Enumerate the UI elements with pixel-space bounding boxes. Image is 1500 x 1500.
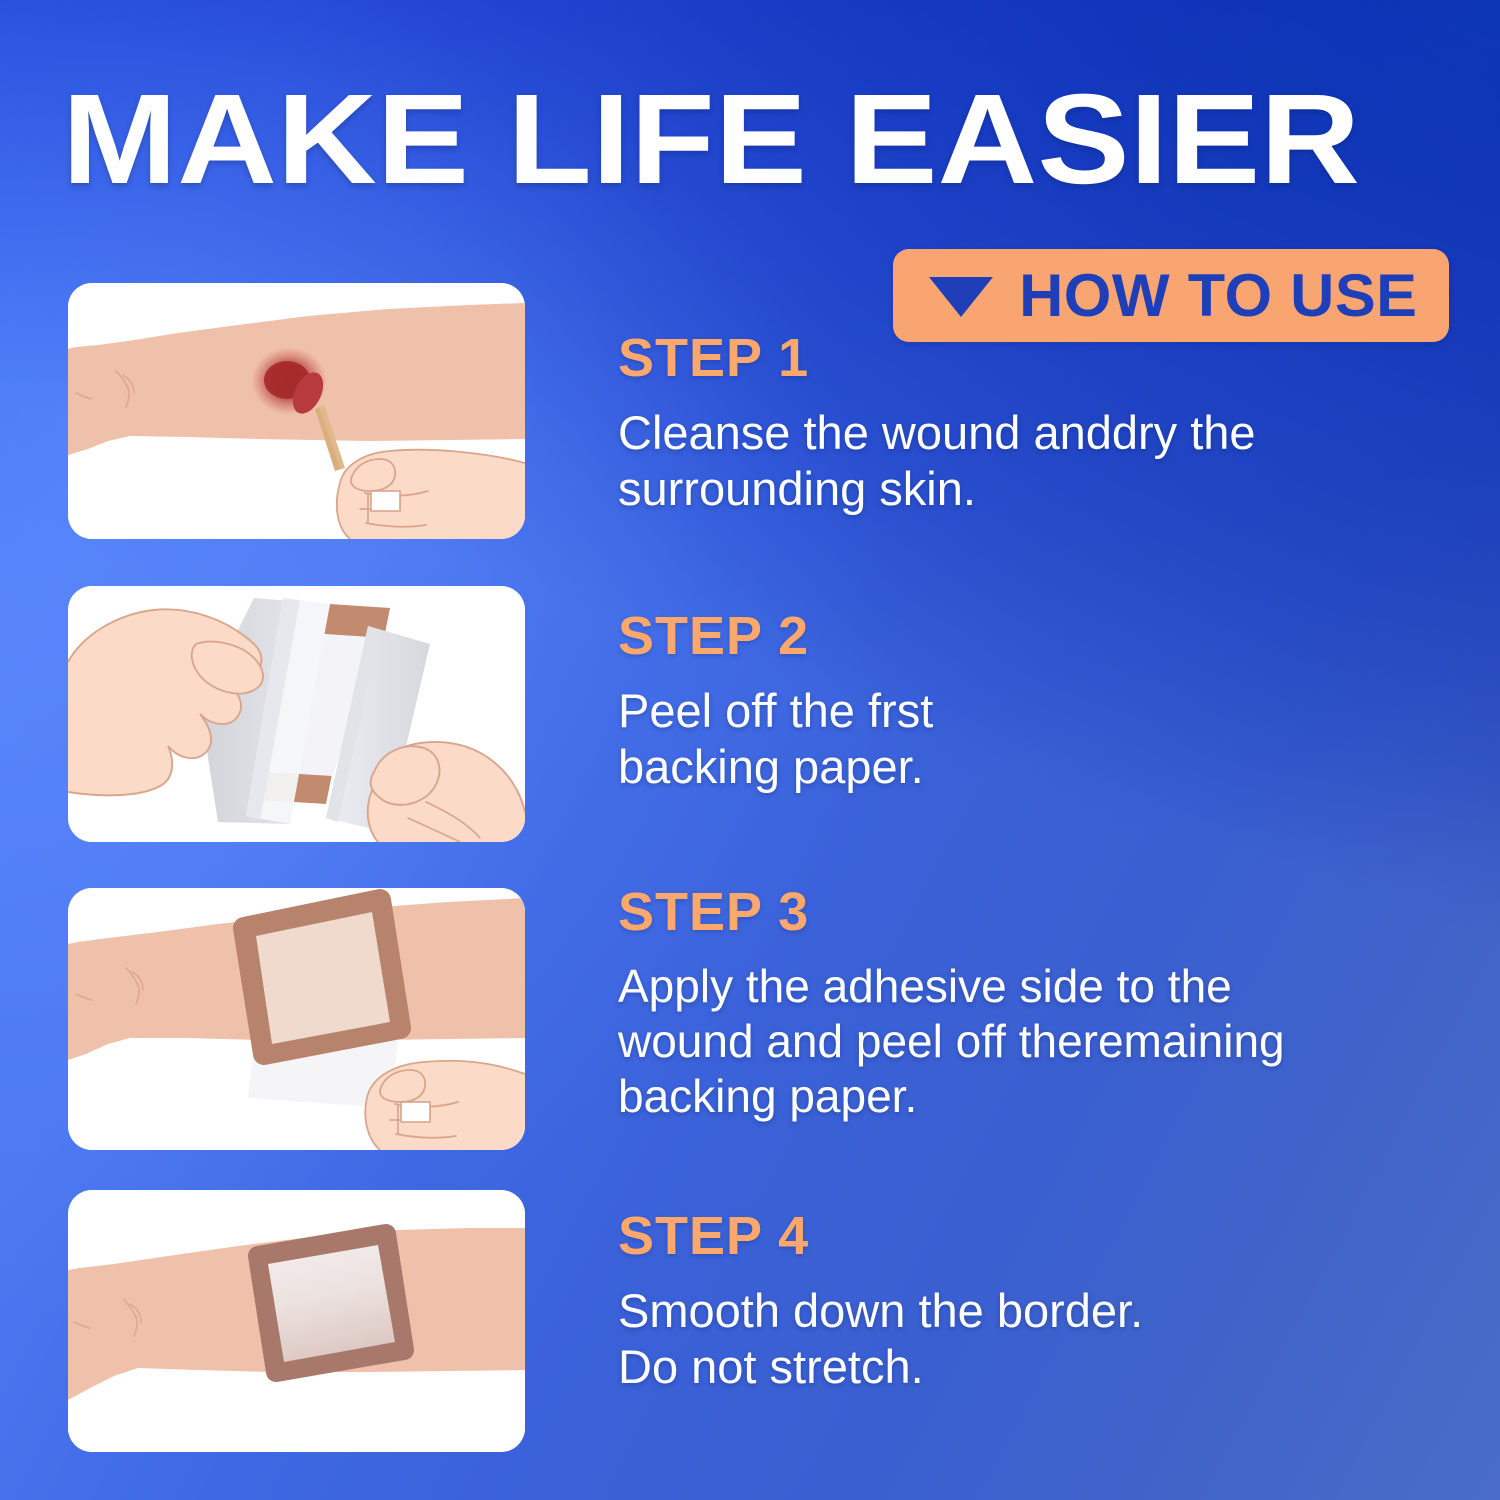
step-block-3: STEP 3 Apply the adhesive side to the wo…	[618, 884, 1418, 1124]
illustration-svg-peel-backing	[68, 586, 525, 842]
step-body-1: Cleanse the wound anddry the surrounding…	[618, 405, 1418, 518]
step-illustration-4	[68, 1190, 525, 1452]
step-block-4: STEP 4 Smooth down the border. Do not st…	[618, 1208, 1418, 1395]
step-label-3: STEP 3	[618, 884, 1418, 941]
step-illustration-1	[68, 283, 525, 539]
how-to-use-badge[interactable]: HOW TO USE	[893, 249, 1449, 342]
step-label-4: STEP 4	[618, 1208, 1418, 1265]
step-body-2: Peel off the frst backing paper.	[618, 683, 1418, 796]
page-title: MAKE LIFE EASIER	[62, 76, 1500, 204]
step-body-3: Apply the adhesive side to the wound and…	[618, 959, 1418, 1125]
chevron-down-triangle-icon	[929, 277, 993, 317]
how-to-use-label: HOW TO USE	[1019, 261, 1417, 330]
step-illustration-3	[68, 888, 525, 1150]
step-label-1: STEP 1	[618, 330, 1418, 387]
step-illustration-2	[68, 586, 525, 842]
illustration-svg-apply-dressing	[68, 888, 525, 1150]
illustration-svg-cleanse-wound	[68, 283, 525, 539]
step-label-2: STEP 2	[618, 608, 1418, 665]
step-block-2: STEP 2 Peel off the frst backing paper.	[618, 608, 1418, 795]
step-block-1: STEP 1 Cleanse the wound anddry the surr…	[618, 330, 1418, 517]
illustration-svg-smooth-border	[68, 1190, 525, 1452]
step-body-4: Smooth down the border. Do not stretch.	[618, 1283, 1418, 1396]
poster-root: MAKE LIFE EASIER HOW TO USE	[0, 0, 1500, 1500]
